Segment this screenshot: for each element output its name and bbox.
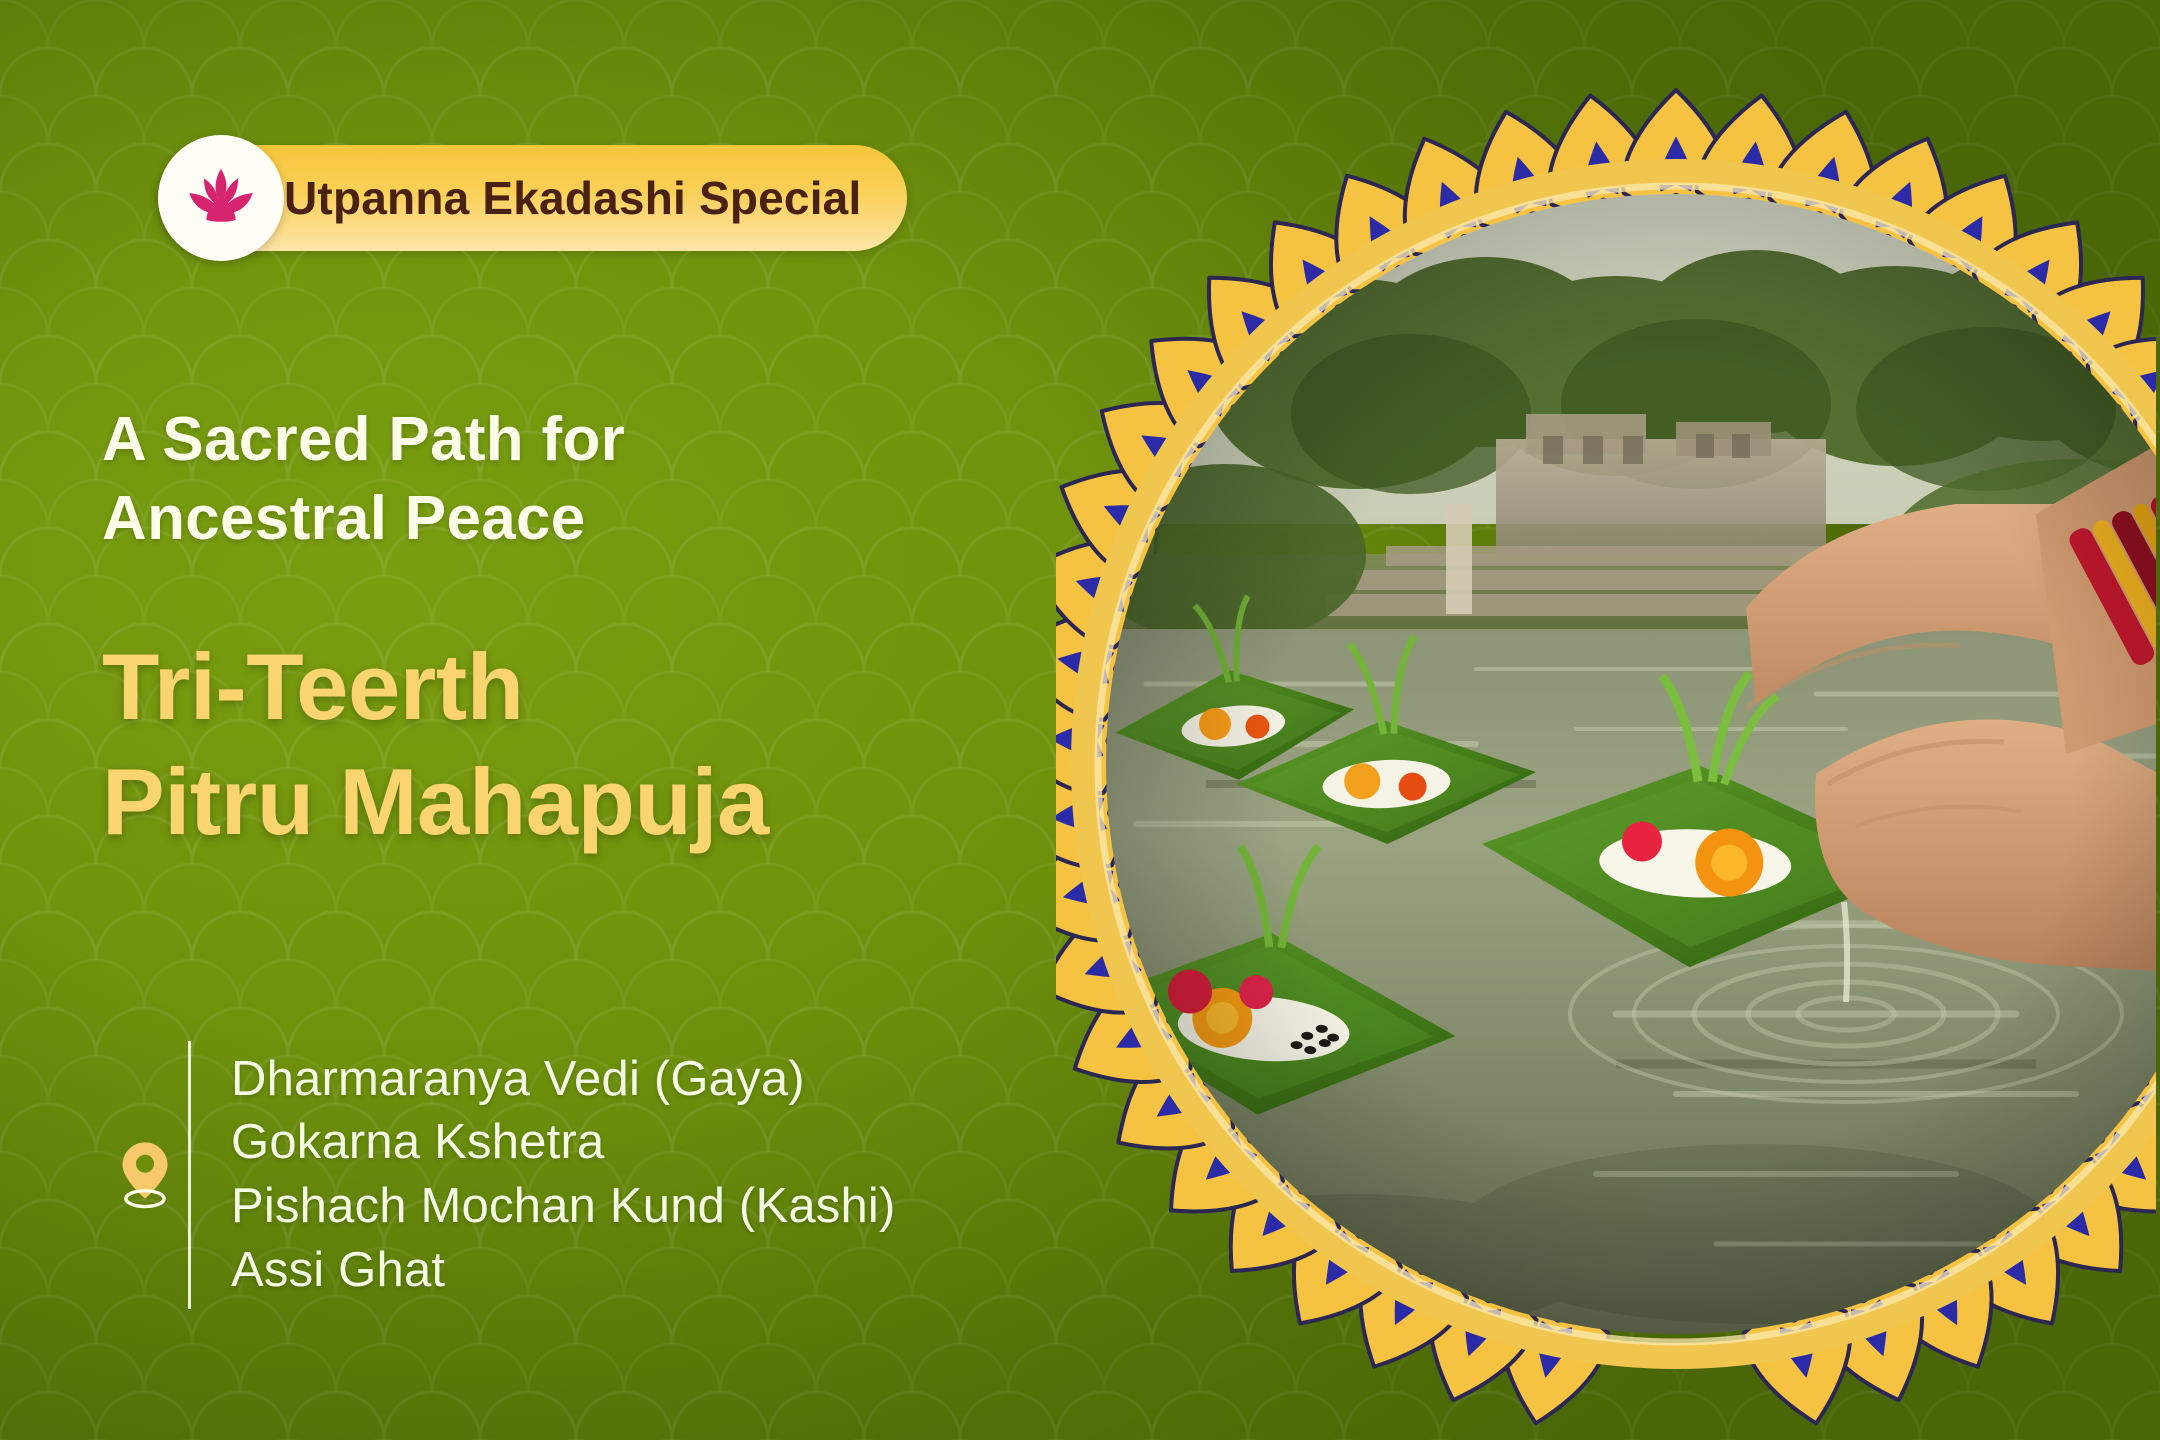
location-pin-icon bbox=[102, 1140, 188, 1210]
headline: A Sacred Path for Ancestral Peace bbox=[102, 400, 625, 559]
headline-line-1: A Sacred Path for bbox=[102, 400, 625, 479]
photo-medallion bbox=[1056, 84, 2156, 1440]
title-line-2: Pitru Mahapuja bbox=[102, 745, 769, 860]
list-item: Gokarna Kshetra bbox=[231, 1111, 896, 1175]
headline-line-2: Ancestral Peace bbox=[102, 479, 625, 558]
badge-pill[interactable]: Utpanna Ekadashi Special bbox=[158, 145, 907, 251]
promo-banner: Utpanna Ekadashi Special A Sacred Path f… bbox=[0, 0, 2160, 1440]
locations-list: Dharmaranya Vedi (Gaya) Gokarna Kshetra … bbox=[231, 1048, 896, 1303]
content-column: Utpanna Ekadashi Special A Sacred Path f… bbox=[96, 0, 1156, 1440]
list-item: Dharmaranya Vedi (Gaya) bbox=[231, 1048, 896, 1112]
page-title: Tri-Teerth Pitru Mahapuja bbox=[102, 630, 769, 859]
locations-divider bbox=[188, 1041, 191, 1309]
badge-label: Utpanna Ekadashi Special bbox=[284, 171, 861, 225]
list-item: Assi Ghat bbox=[231, 1239, 896, 1303]
list-item: Pishach Mochan Kund (Kashi) bbox=[231, 1175, 896, 1239]
title-line-1: Tri-Teerth bbox=[102, 630, 769, 745]
lotus-icon bbox=[158, 135, 284, 261]
special-badge[interactable]: Utpanna Ekadashi Special bbox=[96, 140, 907, 256]
locations-block: Dharmaranya Vedi (Gaya) Gokarna Kshetra … bbox=[102, 1040, 896, 1310]
